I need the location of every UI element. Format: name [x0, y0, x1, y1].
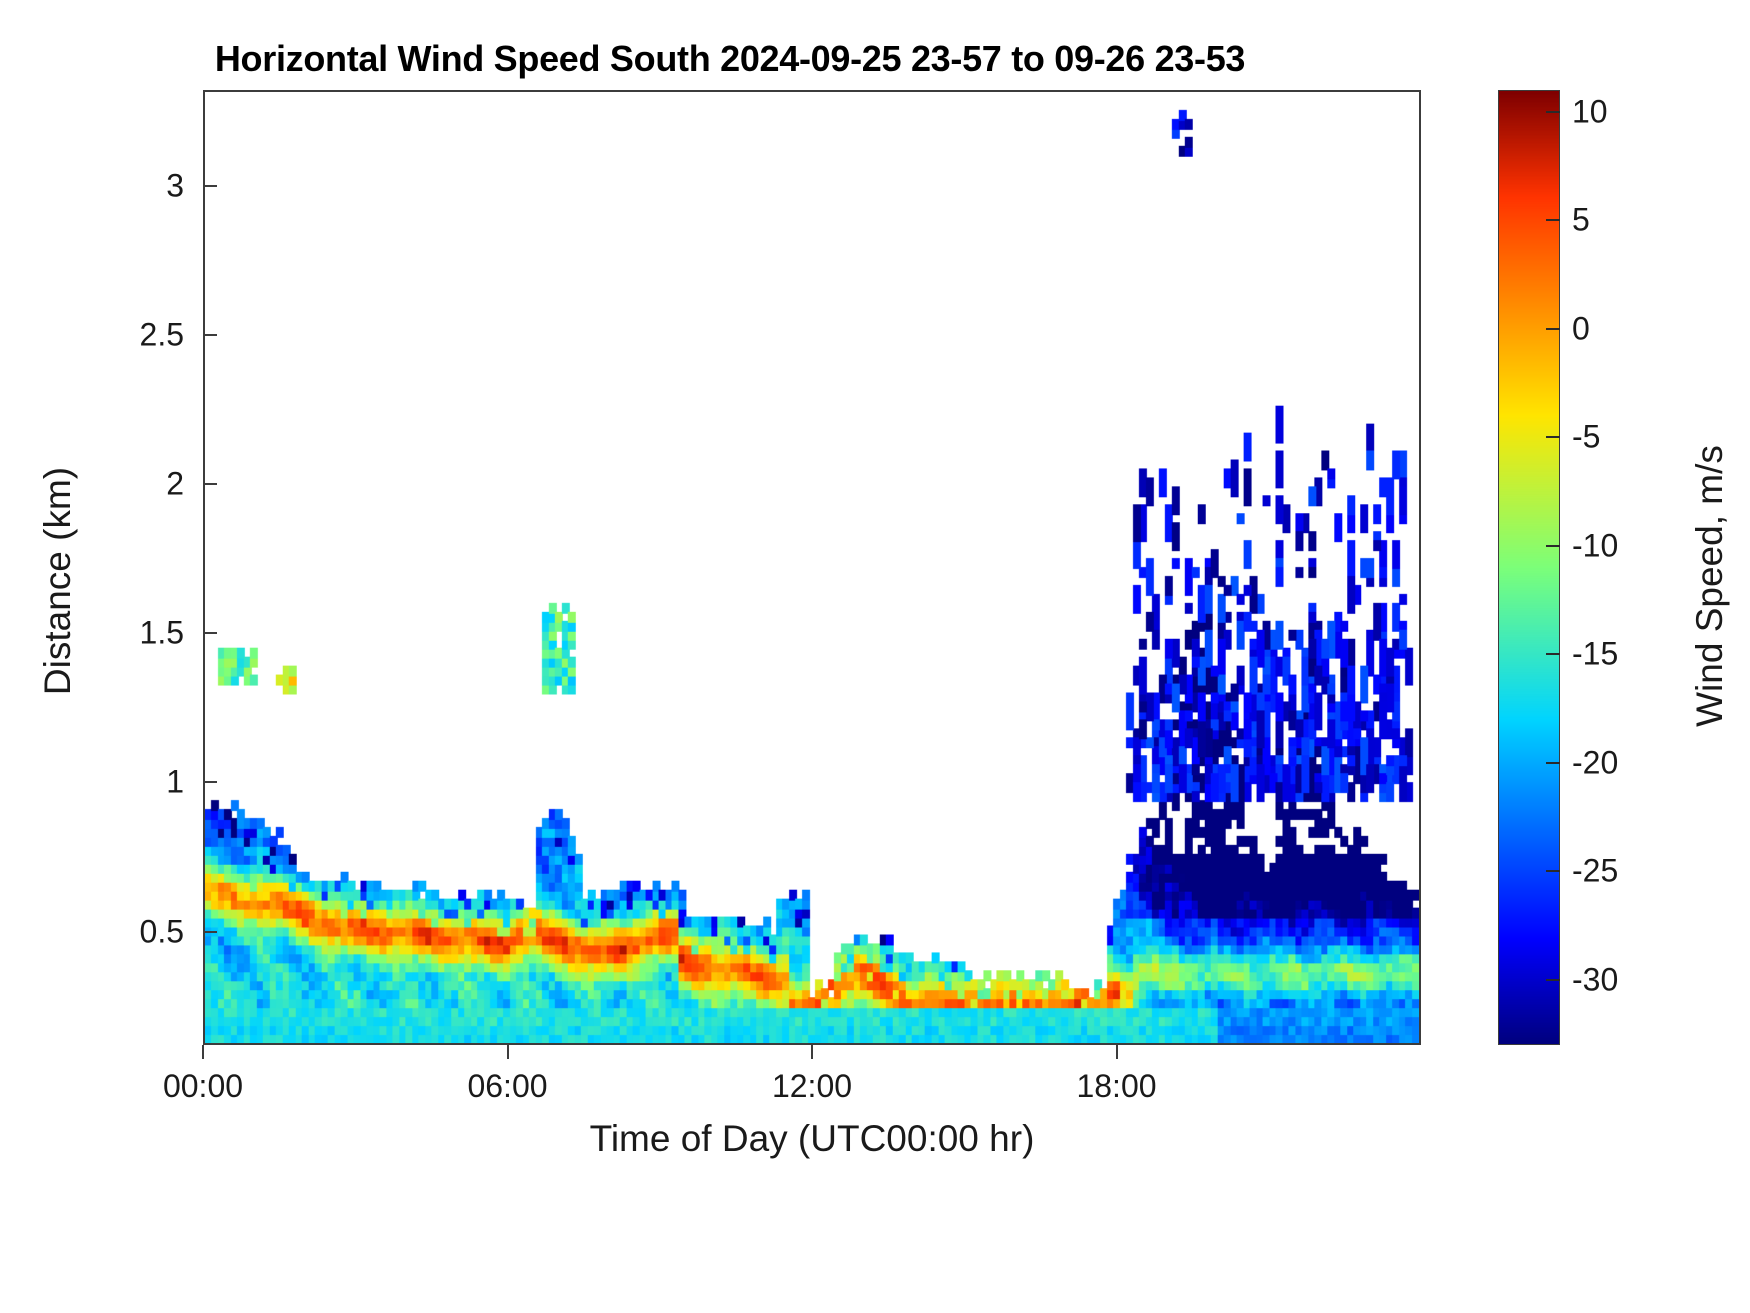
x-tick-mark	[202, 1045, 204, 1059]
colorbar-tick-label-4: -10	[1572, 527, 1618, 564]
x-axis-label: Time of Day (UTC00:00 hr)	[203, 1118, 1421, 1160]
y-tick-label-0: 0.5	[140, 913, 184, 950]
colorbar-tick-label-8: -30	[1572, 961, 1618, 998]
colorbar[interactable]	[1498, 90, 1560, 1045]
colorbar-tick-mark	[1546, 436, 1560, 438]
y-tick-label-5: 3	[166, 167, 184, 204]
colorbar-tick-mark	[1546, 545, 1560, 547]
colorbar-tick-label-7: -25	[1572, 853, 1618, 890]
x-tick-label-0: 00:00	[163, 1068, 243, 1105]
colorbar-tick-mark	[1546, 870, 1560, 872]
page-title: Horizontal Wind Speed South 2024-09-25 2…	[0, 38, 1460, 80]
colorbar-tick-label-5: -15	[1572, 636, 1618, 673]
colorbar-tick-label-6: -20	[1572, 744, 1618, 781]
y-tick-label-1: 1	[166, 764, 184, 801]
colorbar-label: Wind Speed, m/s	[1689, 371, 1731, 801]
y-tick-mark	[203, 483, 217, 485]
figure-root: Horizontal Wind Speed South 2024-09-25 2…	[0, 0, 1750, 1313]
y-tick-label-3: 2	[166, 465, 184, 502]
x-tick-mark	[811, 1045, 813, 1059]
x-tick-label-2: 12:00	[772, 1068, 852, 1105]
colorbar-tick-mark	[1546, 219, 1560, 221]
colorbar-tick-mark	[1546, 328, 1560, 330]
colorbar-gradient	[1498, 90, 1560, 1045]
colorbar-tick-mark	[1546, 762, 1560, 764]
colorbar-tick-label-3: -5	[1572, 419, 1600, 456]
y-tick-mark	[203, 185, 217, 187]
heatmap-plot-area[interactable]	[203, 90, 1421, 1045]
colorbar-tick-mark	[1546, 979, 1560, 981]
y-tick-mark	[203, 632, 217, 634]
x-tick-label-3: 18:00	[1076, 1068, 1156, 1105]
x-tick-label-1: 06:00	[467, 1068, 547, 1105]
colorbar-tick-mark	[1546, 111, 1560, 113]
y-tick-mark	[203, 781, 217, 783]
colorbar-tick-label-1: 5	[1572, 202, 1590, 239]
y-tick-mark	[203, 931, 217, 933]
heatmap-canvas	[205, 92, 1419, 1043]
x-tick-mark	[507, 1045, 509, 1059]
y-axis-label: Distance (km)	[37, 381, 79, 781]
y-tick-mark	[203, 334, 217, 336]
x-tick-mark	[1116, 1045, 1118, 1059]
colorbar-tick-label-2: 0	[1572, 310, 1590, 347]
y-tick-label-4: 2.5	[140, 316, 184, 353]
colorbar-tick-mark	[1546, 653, 1560, 655]
colorbar-tick-label-0: 10	[1572, 93, 1608, 130]
y-tick-label-2: 1.5	[140, 615, 184, 652]
